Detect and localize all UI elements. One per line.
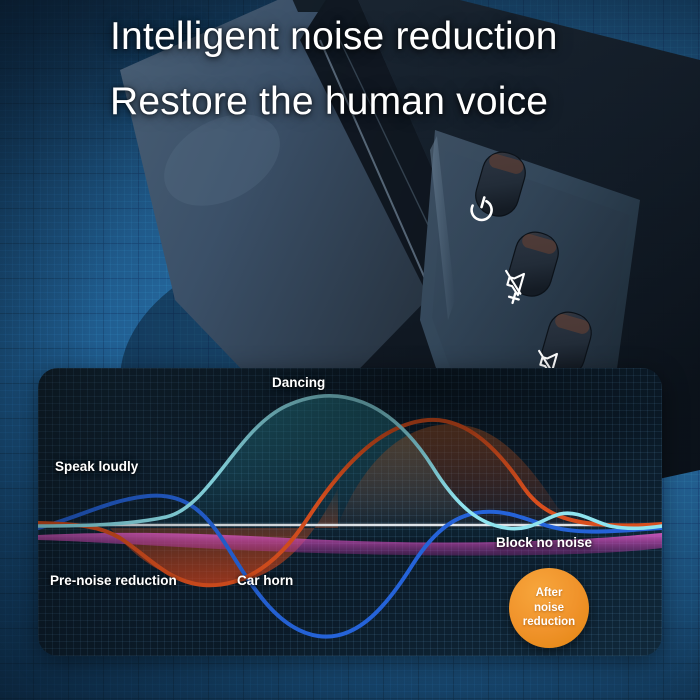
- badge-line-1: After: [536, 586, 563, 601]
- chart-label-car-horn: Car horn: [237, 573, 293, 588]
- headline-secondary: Restore the human voice: [110, 80, 548, 124]
- badge-line-3: reduction: [523, 615, 575, 630]
- chart-label-dancing: Dancing: [272, 375, 325, 390]
- badge-line-2: noise: [534, 601, 564, 616]
- promo-banner: Intelligent noise reduction Restore the …: [0, 0, 700, 700]
- after-noise-reduction-badge: After noise reduction: [509, 568, 589, 648]
- chart-label-pre-noise-reduction: Pre-noise reduction: [50, 573, 177, 588]
- headline-primary: Intelligent noise reduction: [110, 15, 558, 59]
- chart-label-speak-loudly: Speak loudly: [55, 459, 138, 474]
- chart-label-block-no-noise: Block no noise: [496, 535, 592, 550]
